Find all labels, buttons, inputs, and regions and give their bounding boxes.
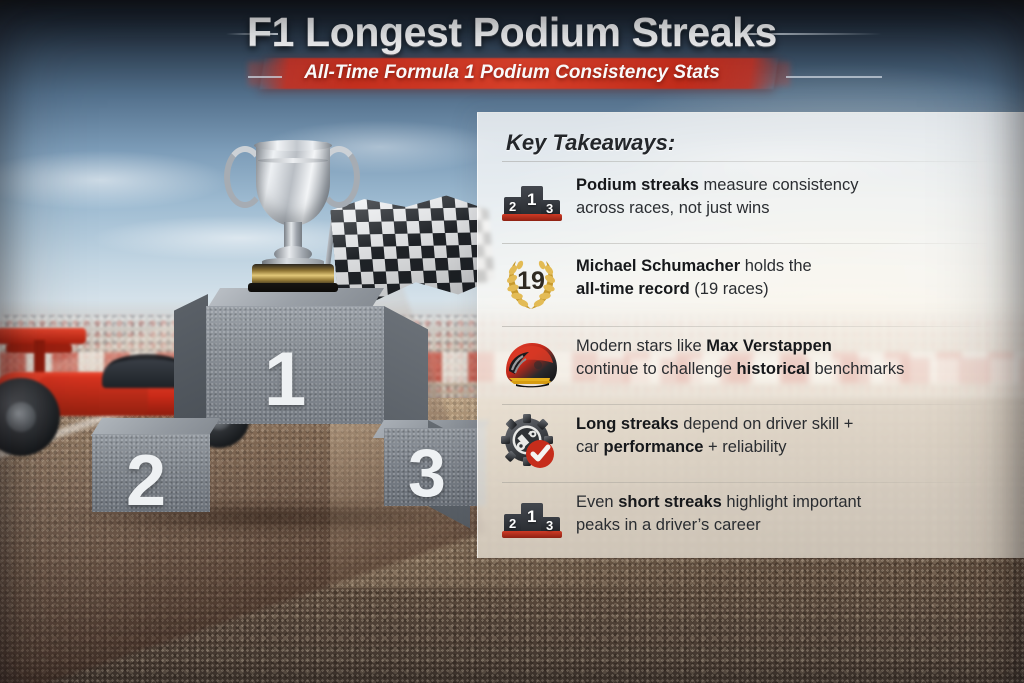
panel-divider (502, 161, 992, 162)
takeaway-item-4: Long streaks depend on driver skill + ca… (500, 414, 1010, 476)
podium-icon: 2 1 3 (500, 492, 562, 550)
takeaway-4-rest: depend on driver skill + (679, 415, 854, 433)
takeaway-2-bold: Michael Schumacher (576, 257, 740, 275)
gear-check-icon (500, 414, 562, 472)
podium-icon: 2 1 3 (500, 175, 562, 233)
takeaway-text-4: Long streaks depend on driver skill + ca… (576, 413, 1006, 460)
takeaway-2-rest: holds the (740, 257, 812, 275)
key-takeaways-panel: Key Takeaways: 2 1 3 Podium streaks meas… (477, 112, 1024, 558)
takeaway-5-bold: short streaks (618, 493, 722, 511)
laurel-wreath-icon: 19 (500, 256, 562, 314)
takeaway-item-1: 2 1 3 Podium streaks measure consistency… (500, 175, 1010, 237)
panel-divider (502, 326, 992, 327)
podium-icon-number-second: 2 (509, 199, 516, 214)
takeaway-1-bold: Podium streaks (576, 176, 699, 194)
takeaway-4-line2-pre: car (576, 438, 604, 456)
header: F1 Longest Podium Streaks All-Time Formu… (0, 0, 1024, 110)
takeaway-5-rest: highlight important (722, 493, 861, 511)
takeaway-item-2: 19 Michael Schumacher holds the all-time… (500, 256, 1010, 318)
panel-divider (502, 243, 992, 244)
winners-podium: 1 2 3 (96, 288, 478, 518)
takeaway-3-line2-bold: historical (737, 360, 810, 378)
takeaway-3-pre: Modern stars like (576, 337, 706, 355)
takeaway-item-3: Modern stars like Max Verstappen continu… (500, 336, 1010, 398)
podium-number-third: 3 (408, 434, 446, 512)
page-title: F1 Longest Podium Streaks (0, 9, 1024, 56)
racing-helmet-svg (502, 338, 560, 390)
takeaway-text-1: Podium streaks measure consistency acros… (576, 174, 1006, 221)
panel-divider (502, 482, 992, 483)
panel-divider (502, 404, 992, 405)
takeaway-1-line2: across races, not just wins (576, 199, 770, 217)
page-subtitle: All-Time Formula 1 Podium Consistency St… (0, 62, 1024, 84)
takeaway-3-line2-pre: continue to challenge (576, 360, 737, 378)
takeaway-2-line2-rest: (19 races) (690, 280, 769, 298)
takeaway-text-3: Modern stars like Max Verstappen continu… (576, 335, 1006, 382)
takeaway-5-pre: Even (576, 493, 618, 511)
podium-icon-number-second: 2 (509, 516, 516, 531)
takeaway-3-bold: Max Verstappen (706, 337, 832, 355)
takeaway-3-line2-post: benchmarks (810, 360, 904, 378)
takeaway-2-line2-bold: all-time record (576, 280, 690, 298)
laurel-number: 19 (500, 267, 562, 296)
takeaway-4-bold: Long streaks (576, 415, 679, 433)
podium-number-first: 1 (264, 336, 306, 423)
podium-icon-number-third: 3 (546, 518, 553, 533)
takeaway-4-line2-post: + reliability (703, 438, 786, 456)
panel-heading: Key Takeaways: (506, 130, 675, 156)
podium-icon-number-first: 1 (527, 507, 536, 527)
takeaway-text-2: Michael Schumacher holds the all-time re… (576, 255, 1006, 302)
trophy-icon (218, 140, 368, 300)
podium-icon-number-third: 3 (546, 201, 553, 216)
takeaway-item-5: 2 1 3 Even short streaks highlight impor… (500, 492, 1010, 554)
takeaway-4-line2-bold: performance (604, 438, 704, 456)
racing-helmet-icon (500, 336, 562, 394)
takeaway-5-line2: peaks in a driver’s career (576, 516, 761, 534)
gear-check-svg (501, 414, 561, 470)
podium-number-second: 2 (126, 440, 166, 522)
takeaway-text-5: Even short streaks highlight important p… (576, 491, 1006, 538)
takeaway-1-rest: measure consistency (699, 176, 859, 194)
podium-icon-number-first: 1 (527, 190, 536, 210)
